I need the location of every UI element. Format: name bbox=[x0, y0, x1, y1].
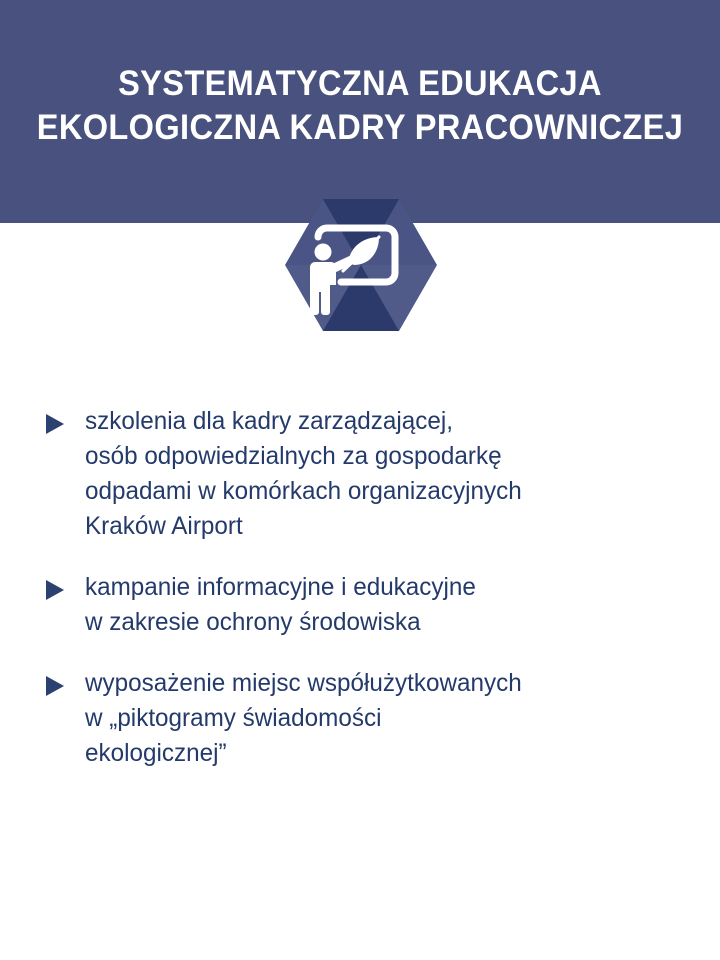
page-title: SYSTEMATYCZNA EDUKACJA EKOLOGICZNA KADRY… bbox=[0, 62, 720, 150]
page-title-line-2: EKOLOGICZNA KADRY PRACOWNICZEJ bbox=[25, 106, 695, 150]
list-item-text: kampanie informacyjne i edukacyjne w zak… bbox=[85, 570, 656, 640]
header-band: SYSTEMATYCZNA EDUKACJA EKOLOGICZNA KADRY… bbox=[0, 0, 720, 223]
triangle-right-icon bbox=[44, 404, 85, 435]
list-item: kampanie informacyjne i edukacyjne w zak… bbox=[44, 570, 674, 640]
list-item-text: wyposażenie miejsc współużytkowanych w „… bbox=[85, 666, 656, 771]
list-item-text: szkolenia dla kadry zarządzającej, osób … bbox=[85, 404, 656, 544]
list-item: wyposażenie miejsc współużytkowanych w „… bbox=[44, 666, 674, 771]
page-title-line-1: SYSTEMATYCZNA EDUKACJA bbox=[25, 62, 695, 106]
triangle-right-icon bbox=[44, 666, 85, 697]
bullet-list: szkolenia dla kadry zarządzającej, osób … bbox=[44, 404, 674, 771]
triangle-right-icon bbox=[44, 570, 85, 601]
list-item: szkolenia dla kadry zarządzającej, osób … bbox=[44, 404, 674, 544]
hexagon-eco-education-icon bbox=[285, 199, 437, 331]
